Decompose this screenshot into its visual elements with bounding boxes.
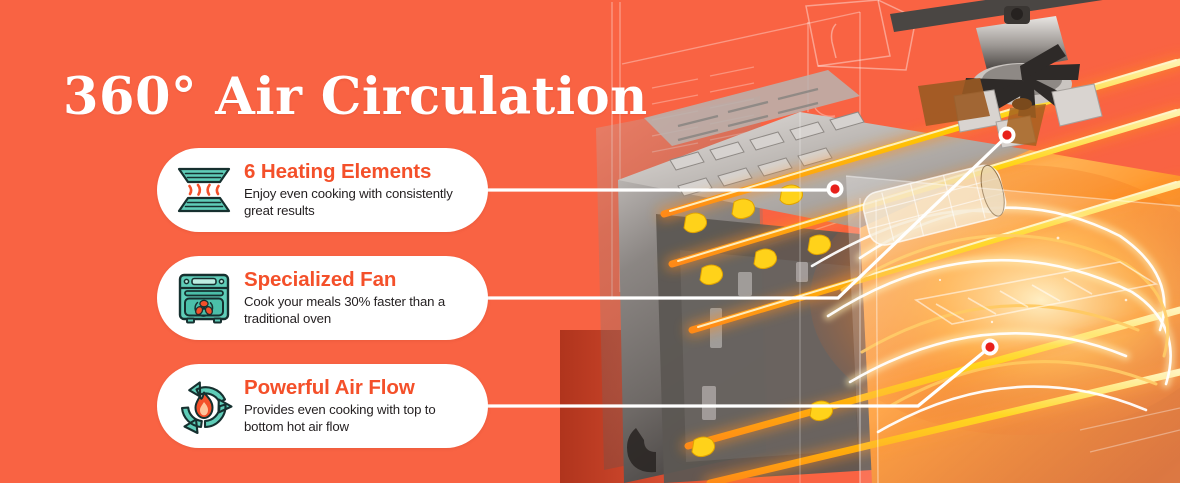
feature-card-air-flow[interactable]: Powerful Air Flow Provides even cooking … [157,364,488,448]
feature-description: Cook your meals 30% faster than a tradit… [244,294,472,328]
feature-card-heating-elements[interactable]: 6 Heating Elements Enjoy even cooking wi… [157,148,488,232]
feature-text-air-flow: Powerful Air Flow Provides even cooking … [244,376,472,435]
feature-card-specialized-fan[interactable]: Specialized Fan Cook your meals 30% fast… [157,256,488,340]
oven-cutaway-illustration [560,0,1180,483]
air-flow-circulation-icon [174,376,234,436]
page-title: 360° Air Circulation [63,72,648,123]
feature-title: Specialized Fan [244,269,472,291]
feature-title: 6 Heating Elements [244,161,472,183]
feature-title: Powerful Air Flow [244,377,472,399]
feature-text-heating-elements: 6 Heating Elements Enjoy even cooking wi… [244,160,472,219]
feature-text-specialized-fan: Specialized Fan Cook your meals 30% fast… [244,268,472,327]
product-image [560,0,1180,483]
convection-oven-fan-icon [174,268,234,328]
feature-description: Provides even cooking with top to bottom… [244,402,472,436]
air-circulation-banner: 360° Air Circulation [0,0,1180,483]
heating-elements-icon [174,160,234,220]
feature-description: Enjoy even cooking with consistently gre… [244,186,472,220]
